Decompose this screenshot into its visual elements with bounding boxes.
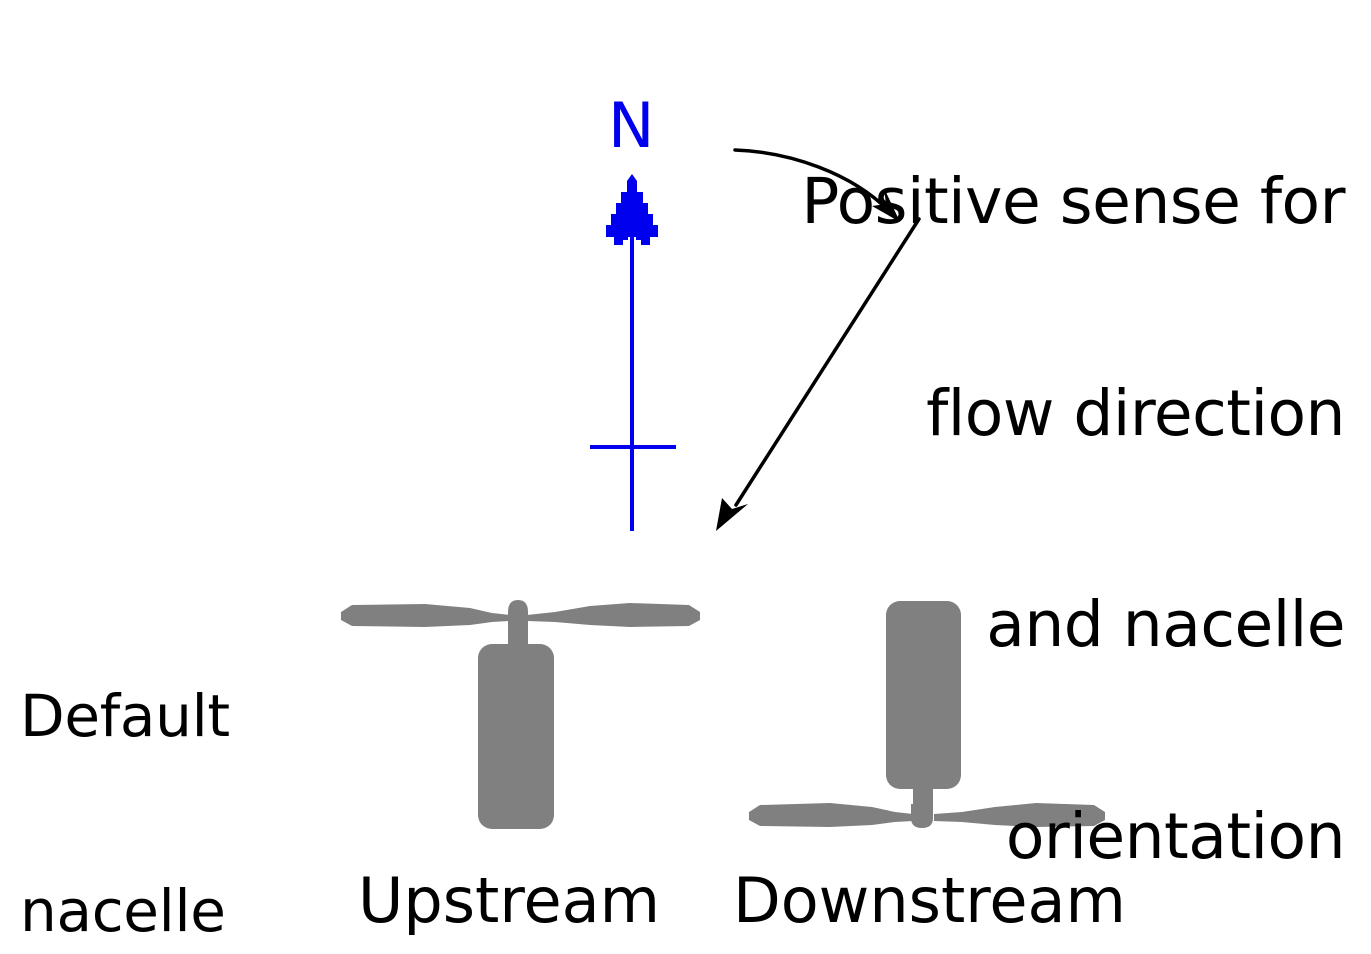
turbine-label-upstream: Upstream <box>358 866 660 935</box>
upstream-rotor-blade-right <box>527 603 700 627</box>
upstream-nacelle-body <box>478 644 554 829</box>
compass-north-label: N <box>608 91 654 160</box>
default-nacelle-line-2: nacelle <box>20 879 334 944</box>
flow-direction-annotation: Positive sense for flow direction and na… <box>801 26 1345 954</box>
flow-annotation-line-2: flow direction <box>801 379 1345 450</box>
default-nacelle-annotation: Default nacelle orientation <box>20 554 334 954</box>
flow-annotation-line-4: orientation <box>801 802 1345 873</box>
flow-annotation-line-1: Positive sense for <box>801 167 1345 238</box>
turbine-upstream <box>341 600 700 829</box>
nacelle-orientation-diagram: N Positive sense for flow direction and … <box>0 0 1371 954</box>
north-arrow-icon <box>606 174 658 245</box>
upstream-rotor-blade-left <box>341 604 510 627</box>
upstream-rotor-hub <box>508 600 528 628</box>
compass-north-indicator <box>590 174 676 531</box>
lower-arrowhead-icon <box>716 498 748 531</box>
turbine-label-downstream: Downstream <box>733 866 1126 935</box>
flow-annotation-line-3: and nacelle <box>801 590 1345 661</box>
default-nacelle-line-1: Default <box>20 684 334 749</box>
